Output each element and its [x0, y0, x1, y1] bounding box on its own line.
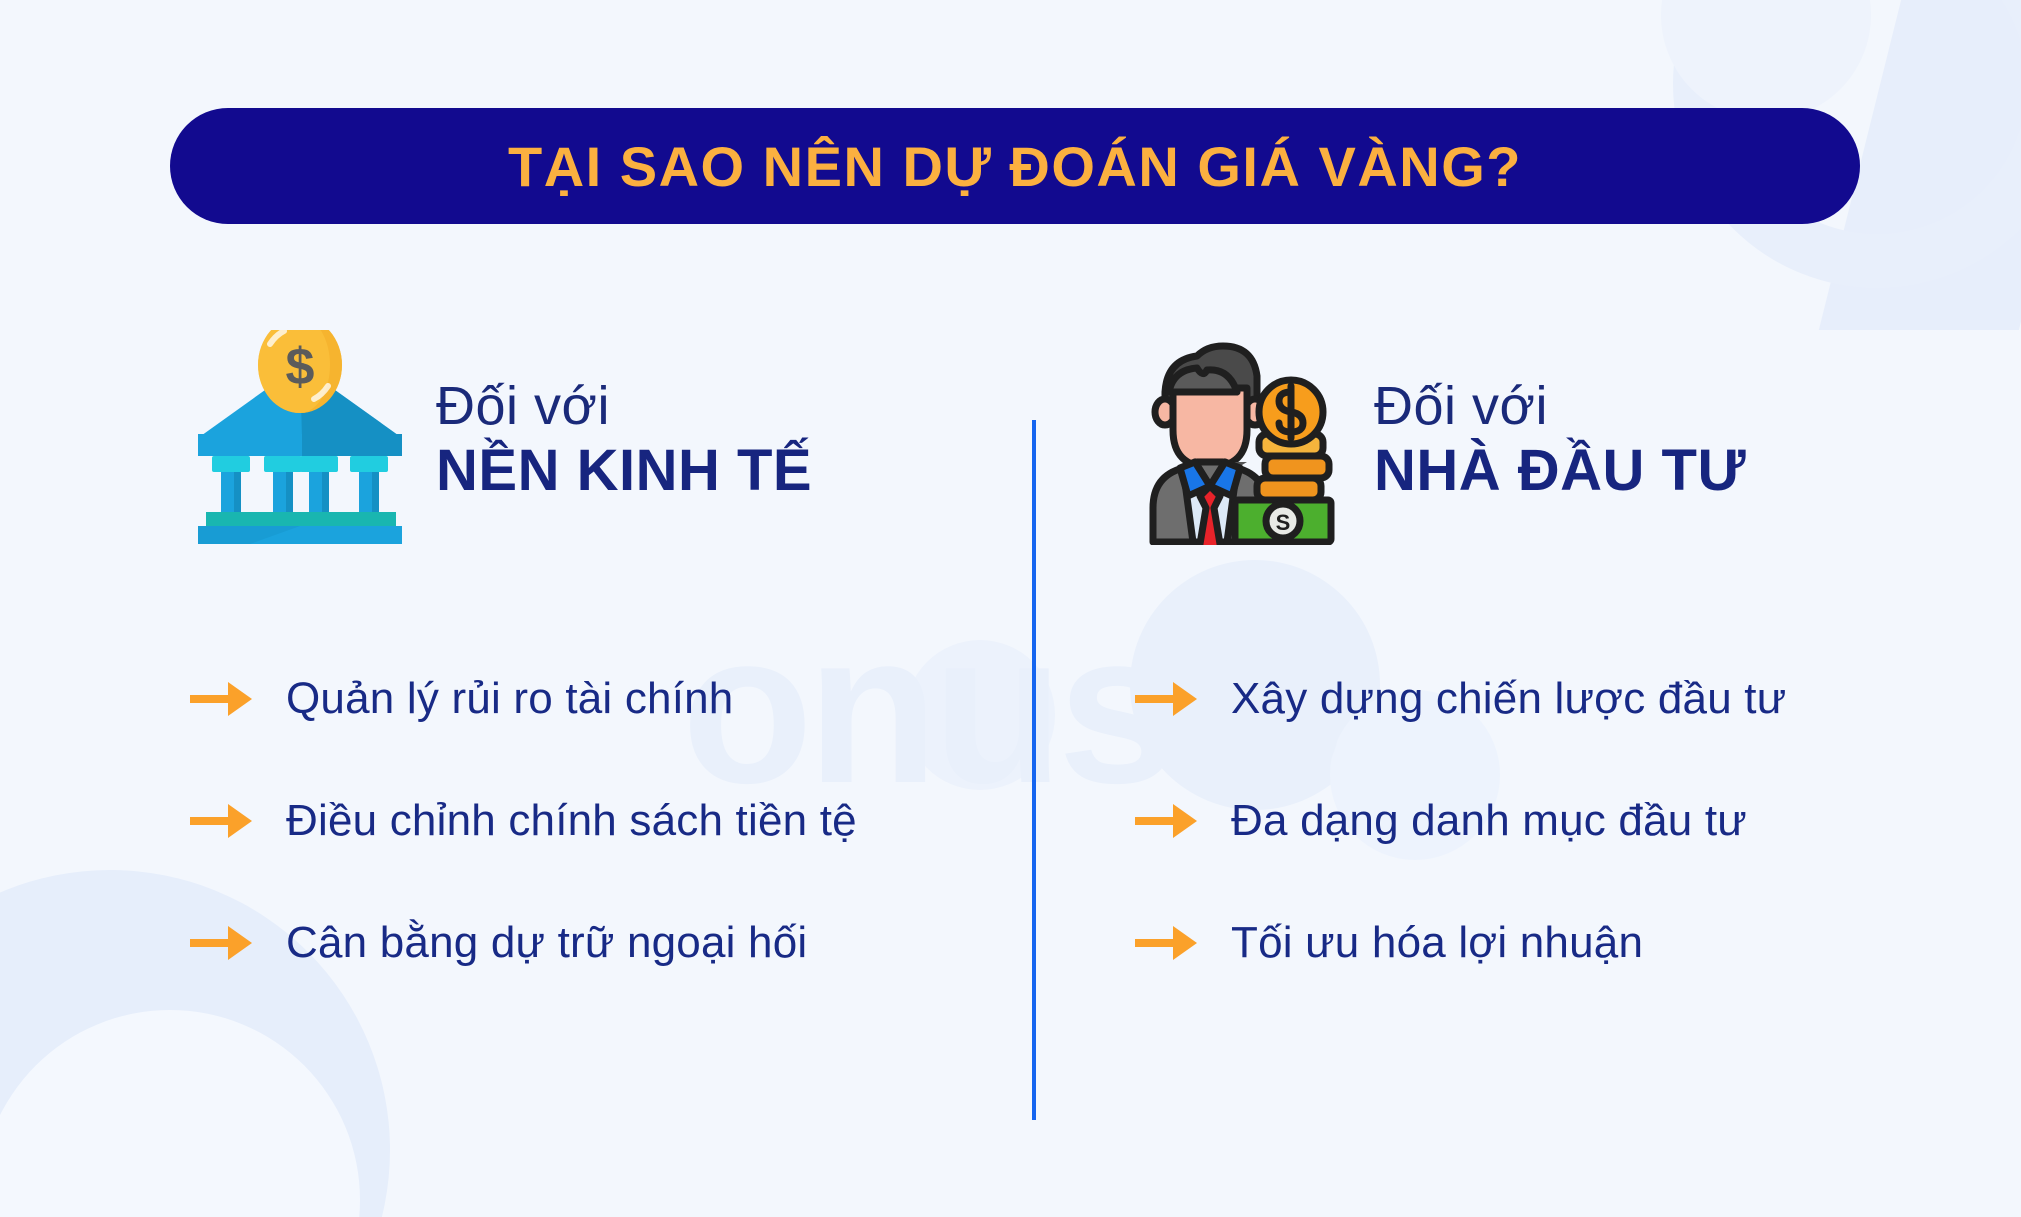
- list-item-label: Điều chỉnh chính sách tiền tệ: [286, 796, 857, 846]
- investor-heading-main: NHÀ ĐẦU TƯ: [1374, 438, 1746, 504]
- column-investor: S Đối với NHÀ ĐẦU TƯ Xây dựng chiến lược…: [1135, 300, 1965, 1004]
- investor-heading-prefix: Đối với: [1374, 376, 1746, 438]
- list-item-label: Quản lý rủi ro tài chính: [286, 674, 733, 724]
- list-item-label: Tối ưu hóa lợi nhuận: [1231, 918, 1643, 968]
- bank-coin-icon: $: [190, 330, 410, 550]
- infographic-canvas: onus TẠI SAO NÊN DỰ ĐOÁN GIÁ VÀNG?: [0, 0, 2021, 1217]
- arrow-right-icon: [1135, 804, 1197, 838]
- arrow-right-icon: [190, 926, 252, 960]
- list-item: Cân bằng dự trữ ngoại hối: [190, 882, 1010, 1004]
- investor-bullet-list: Xây dựng chiến lược đầu tư Đa dạng danh …: [1135, 638, 1965, 1004]
- svg-text:$: $: [286, 338, 315, 396]
- list-item-label: Đa dạng danh mục đầu tư: [1231, 796, 1747, 846]
- arrow-right-icon: [1135, 926, 1197, 960]
- column-economy: $ Đối với NỀN KINH TẾ Quản lý rủi ro tài…: [190, 300, 1010, 1004]
- investor-heading: Đối với NHÀ ĐẦU TƯ: [1374, 376, 1746, 504]
- investor-money-icon: S: [1135, 330, 1350, 550]
- economy-bullet-list: Quản lý rủi ro tài chính Điều chỉnh chín…: [190, 638, 1010, 1004]
- investor-header: S Đối với NHÀ ĐẦU TƯ: [1135, 300, 1965, 580]
- economy-heading: Đối với NỀN KINH TẾ: [436, 376, 812, 504]
- decorative-circle-top-right: [1661, 0, 1871, 120]
- arrow-right-icon: [190, 804, 252, 838]
- title-banner: TẠI SAO NÊN DỰ ĐOÁN GIÁ VÀNG?: [170, 108, 1860, 224]
- economy-heading-main: NỀN KINH TẾ: [436, 438, 812, 504]
- arrow-right-icon: [1135, 682, 1197, 716]
- list-item-label: Cân bằng dự trữ ngoại hối: [286, 918, 807, 968]
- list-item: Quản lý rủi ro tài chính: [190, 638, 1010, 760]
- columns-container: $ Đối với NỀN KINH TẾ Quản lý rủi ro tài…: [0, 300, 2021, 1160]
- svg-text:S: S: [1276, 510, 1291, 535]
- column-divider: [1032, 420, 1036, 1120]
- economy-heading-prefix: Đối với: [436, 376, 812, 438]
- list-item: Tối ưu hóa lợi nhuận: [1135, 882, 1965, 1004]
- arrow-right-icon: [190, 682, 252, 716]
- list-item: Xây dựng chiến lược đầu tư: [1135, 638, 1965, 760]
- list-item-label: Xây dựng chiến lược đầu tư: [1231, 674, 1786, 724]
- list-item: Điều chỉnh chính sách tiền tệ: [190, 760, 1010, 882]
- economy-header: $ Đối với NỀN KINH TẾ: [190, 300, 1010, 580]
- page-title: TẠI SAO NÊN DỰ ĐOÁN GIÁ VÀNG?: [508, 134, 1522, 199]
- list-item: Đa dạng danh mục đầu tư: [1135, 760, 1965, 882]
